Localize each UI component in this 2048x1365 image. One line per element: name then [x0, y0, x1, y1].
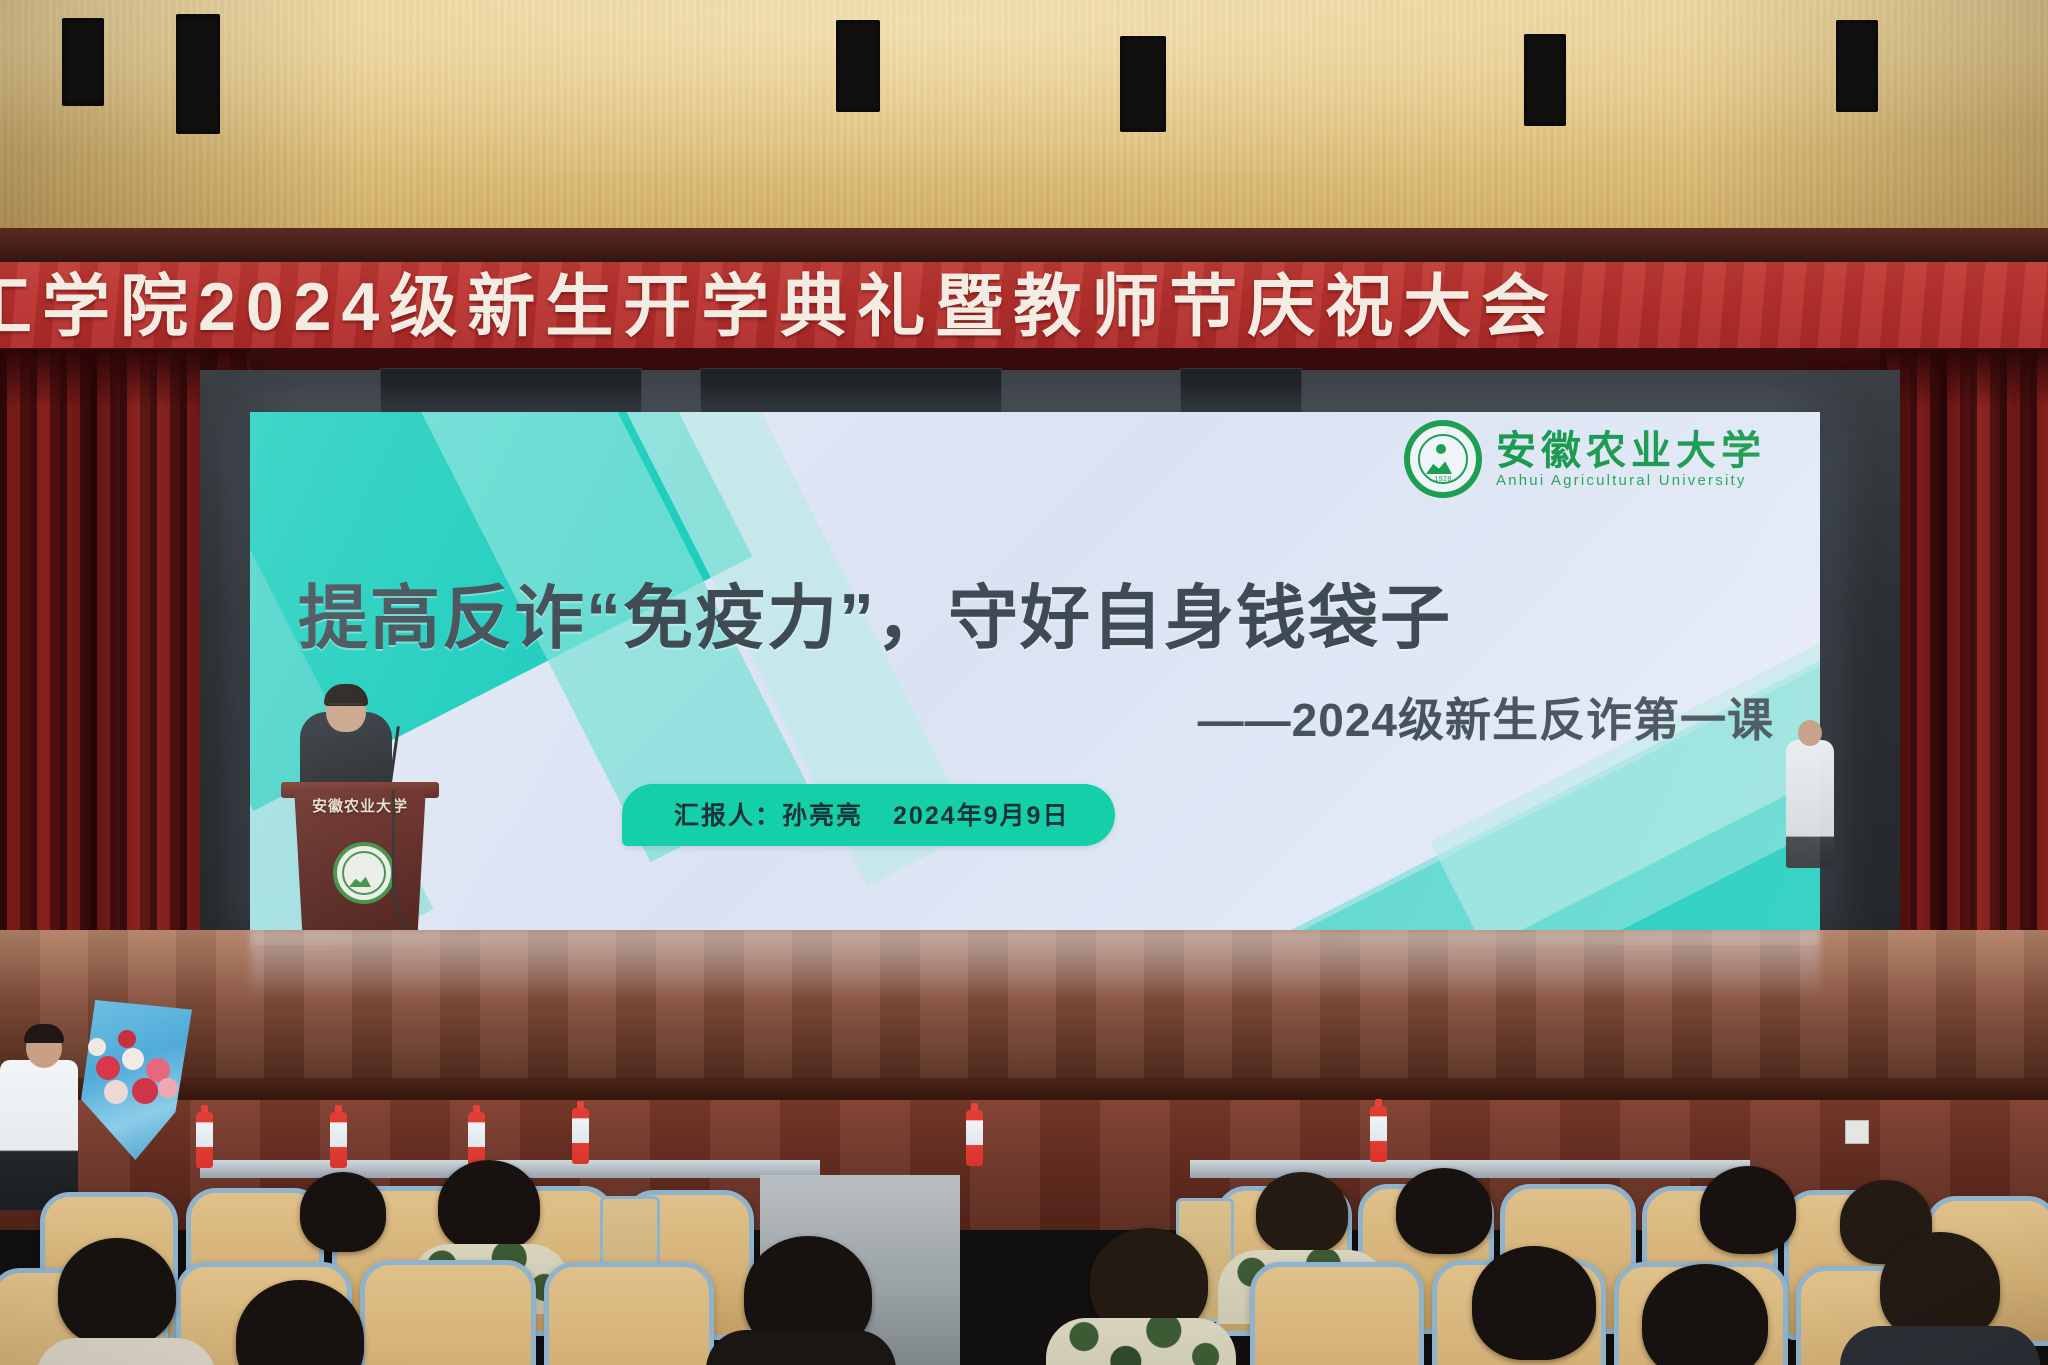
- seal-mountain-icon: [1426, 460, 1452, 474]
- presentation-date: 2024年9月9日: [893, 802, 1069, 830]
- water-bottle: [1370, 1106, 1387, 1162]
- bouquet-flower: [118, 1030, 136, 1048]
- audience-head: [1396, 1168, 1492, 1254]
- auditorium-seat: [1250, 1262, 1424, 1365]
- university-logo-text: 安徽农业大学 Anhui Agricultural University: [1496, 431, 1766, 488]
- event-banner-text: 工学院2024级新生开学典礼暨教师节庆祝大会: [0, 273, 1559, 341]
- bouquet-flower: [158, 1078, 178, 1098]
- audience-head: [438, 1160, 540, 1252]
- seal-founding-year: 1928: [1410, 476, 1476, 483]
- ceiling-acoustic-slot: [62, 18, 104, 106]
- podium-seal-mountain-icon: [349, 876, 371, 887]
- water-bottle: [572, 1108, 589, 1164]
- water-bottle: [196, 1112, 213, 1168]
- university-name-cn: 安徽农业大学: [1496, 431, 1766, 471]
- auditorium-seat: [360, 1260, 536, 1365]
- event-banner: 工学院2024级新生开学典礼暨教师节庆祝大会: [0, 262, 2048, 352]
- audience-head: [300, 1172, 386, 1252]
- curtain-top-shadow: [1880, 348, 2048, 408]
- ceiling-wood-panel: [0, 0, 2048, 240]
- water-bottle: [330, 1112, 347, 1168]
- university-seal-icon: 1928: [1404, 420, 1482, 498]
- bouquet-flower: [122, 1048, 144, 1070]
- university-logo: 1928 安徽农业大学 Anhui Agricultural Universit…: [1404, 420, 1766, 498]
- audience-shoulders: [36, 1338, 216, 1365]
- water-bottle: [966, 1110, 983, 1166]
- presenter-label: 汇报人：: [674, 802, 782, 830]
- ceiling-acoustic-slot: [836, 20, 880, 112]
- screen-reflection-on-floor: [250, 930, 1820, 1000]
- ceiling-lighting-gradient: [0, 0, 2048, 240]
- stage-aide-head: [1798, 720, 1822, 746]
- presenter-badge: 汇报人：孙亮亮2024年9月9日: [622, 784, 1115, 846]
- auditorium-photo: 工学院2024级新生开学典礼暨教师节庆祝大会 1928: [0, 0, 2048, 1365]
- slide-subtitle: ——2024级新生反诈第一课: [1198, 684, 1774, 750]
- audience-shoulders: [706, 1330, 896, 1365]
- ceiling-acoustic-slot: [1524, 34, 1566, 126]
- auditorium-seat: [544, 1262, 714, 1365]
- audience-head: [58, 1238, 176, 1346]
- bouquet-flower: [96, 1056, 120, 1080]
- ceiling-acoustic-slot: [1836, 20, 1878, 112]
- seal-sun-icon: [1436, 444, 1446, 454]
- bouquet-holder-body: [0, 1060, 78, 1210]
- bouquet-flower: [104, 1080, 128, 1104]
- presenter-name: 孙亮亮: [782, 802, 863, 830]
- stage-floor: [0, 930, 2048, 1090]
- audience-head: [1472, 1246, 1596, 1360]
- podium-university-seal-icon: [333, 842, 395, 904]
- wall-switch-plate: [1845, 1120, 1869, 1144]
- bouquet-flower: [88, 1038, 106, 1056]
- stage-aide-body: [1786, 740, 1834, 868]
- ceiling-acoustic-slot: [1120, 36, 1166, 132]
- audience-shoulders-camouflage: [1046, 1318, 1236, 1365]
- audience-head: [1256, 1172, 1348, 1254]
- ceiling-acoustic-slot: [176, 14, 220, 134]
- bouquet-flower: [132, 1078, 158, 1104]
- university-name-en: Anhui Agricultural University: [1496, 473, 1766, 488]
- speaker-glasses-icon: [329, 703, 363, 712]
- curtain-folds: [1880, 348, 2048, 1008]
- audience-head: [1700, 1166, 1796, 1254]
- slide-title: 提高反诈“免疫力”，守好自身钱袋子: [298, 582, 1780, 656]
- audience-shoulders: [1840, 1326, 2040, 1365]
- bouquet-holder-hair: [24, 1024, 64, 1043]
- stage-curtain-right: [1880, 348, 2048, 1008]
